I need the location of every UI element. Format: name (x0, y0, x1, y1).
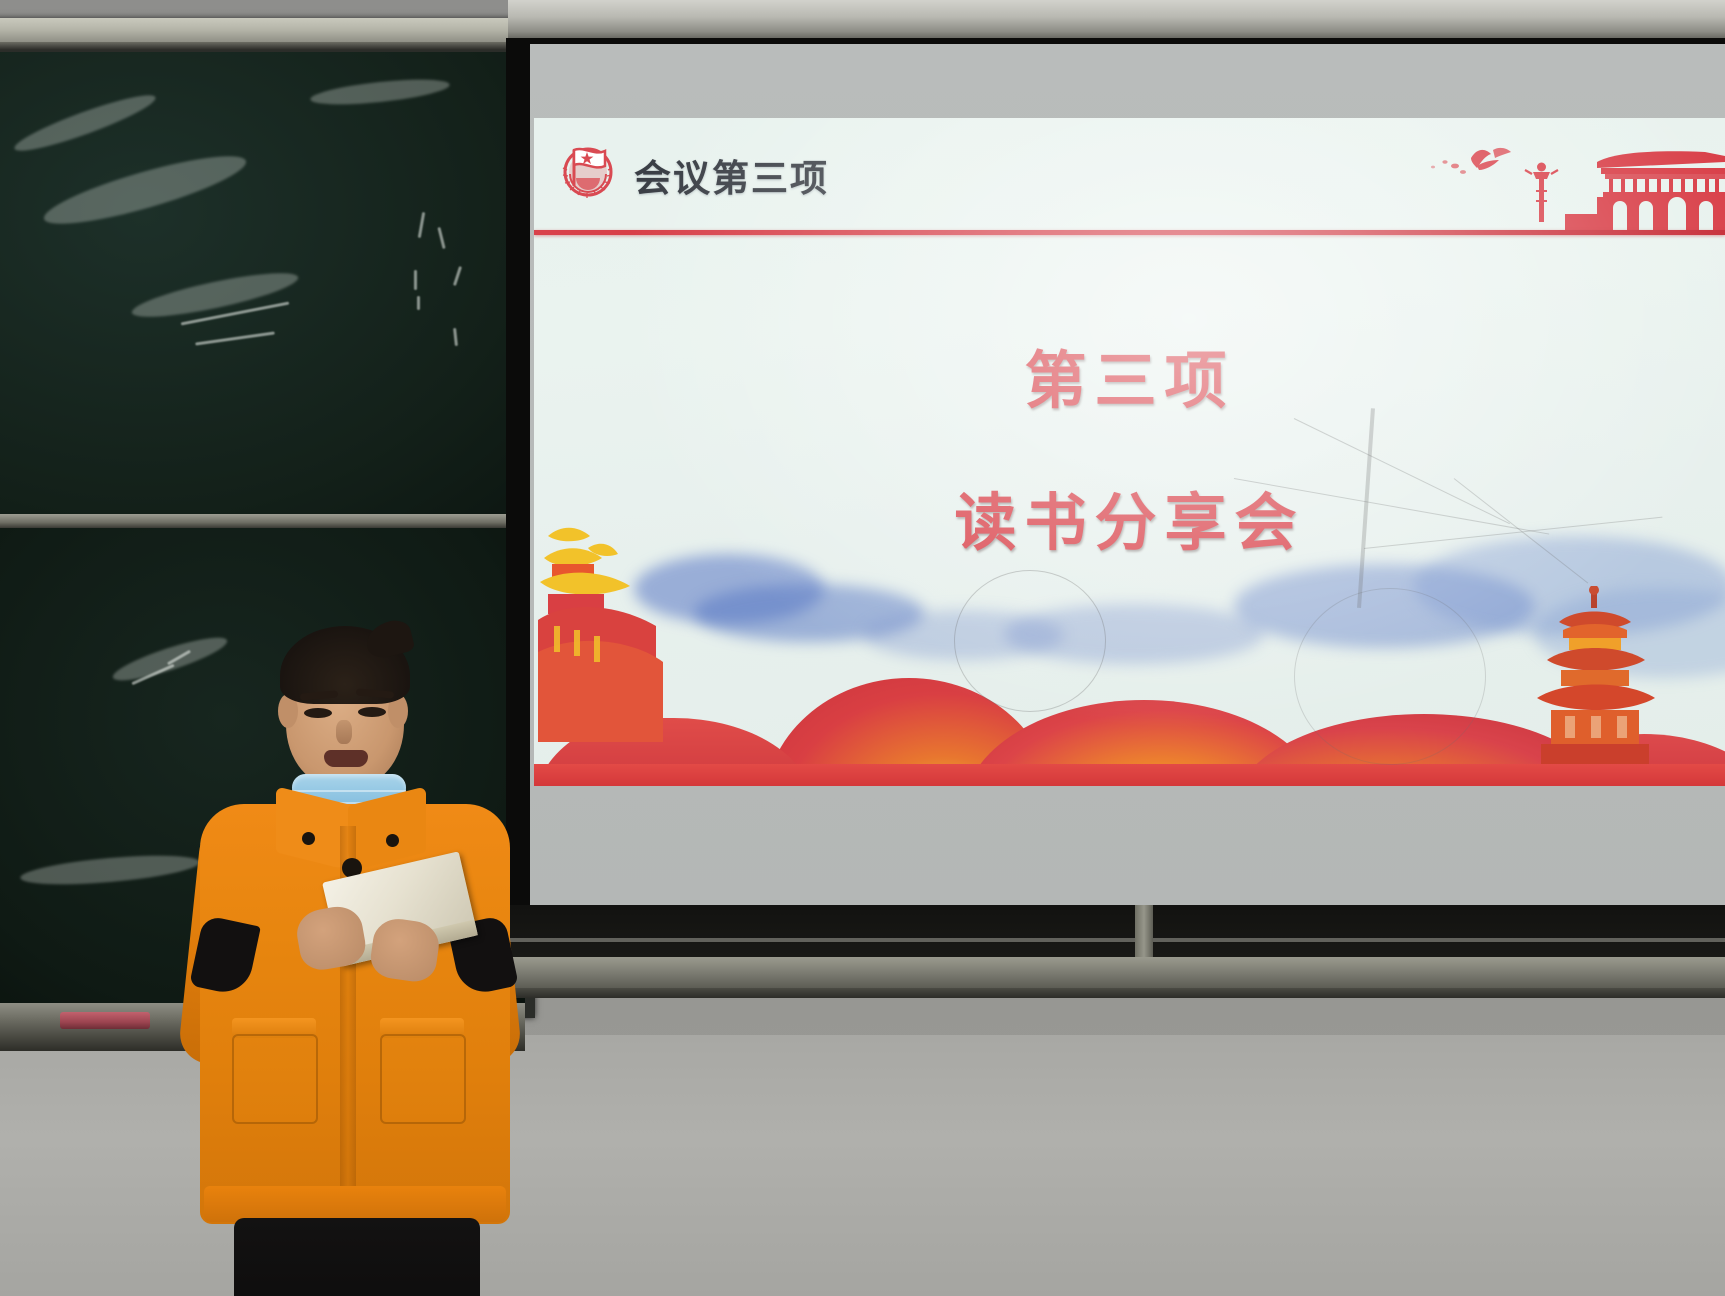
presenter (190, 620, 520, 1296)
ledge-shadow (506, 988, 1725, 998)
projection-screen-housing (508, 0, 1725, 42)
slide-header-divider (534, 230, 1725, 235)
presentation-slide: 会议第三项 (534, 118, 1725, 786)
slide-main-title: 第三项 (534, 330, 1725, 420)
chalkboard-top-rail (0, 18, 525, 44)
eye-left (304, 708, 332, 718)
ledge-highlight-line (506, 938, 1725, 942)
temple-of-heaven-icon (1535, 586, 1655, 786)
screen-under-shadow (506, 905, 1725, 963)
communist-youth-league-emblem-icon (558, 140, 616, 198)
eye-right (358, 707, 386, 717)
collar-snap-right (386, 834, 399, 847)
tiananmen-gate-icon (1505, 140, 1725, 232)
nose (336, 720, 352, 744)
collar-snap-left (302, 832, 315, 845)
jacket-pocket-left (232, 1034, 318, 1124)
mouth (324, 750, 368, 767)
chinese-pavilion-icon (538, 502, 663, 742)
jacket-pocket-right (380, 1034, 466, 1124)
pants (234, 1218, 480, 1296)
wall-ledge (506, 957, 1725, 991)
ledge-divider-post (1135, 905, 1153, 961)
classroom-photo: 会议第三项 (0, 0, 1725, 1296)
jacket-waistband (204, 1186, 506, 1222)
chalkboard-middle-rail (0, 514, 525, 528)
slide-header-title: 会议第三项 (634, 148, 829, 202)
screen-chalk-circle (954, 570, 1106, 712)
slide-bottom-band (534, 764, 1725, 786)
chalkboard-upper-panel (0, 52, 525, 514)
red-eraser (60, 1012, 150, 1029)
screen-chalk-circle-2 (1294, 588, 1486, 765)
